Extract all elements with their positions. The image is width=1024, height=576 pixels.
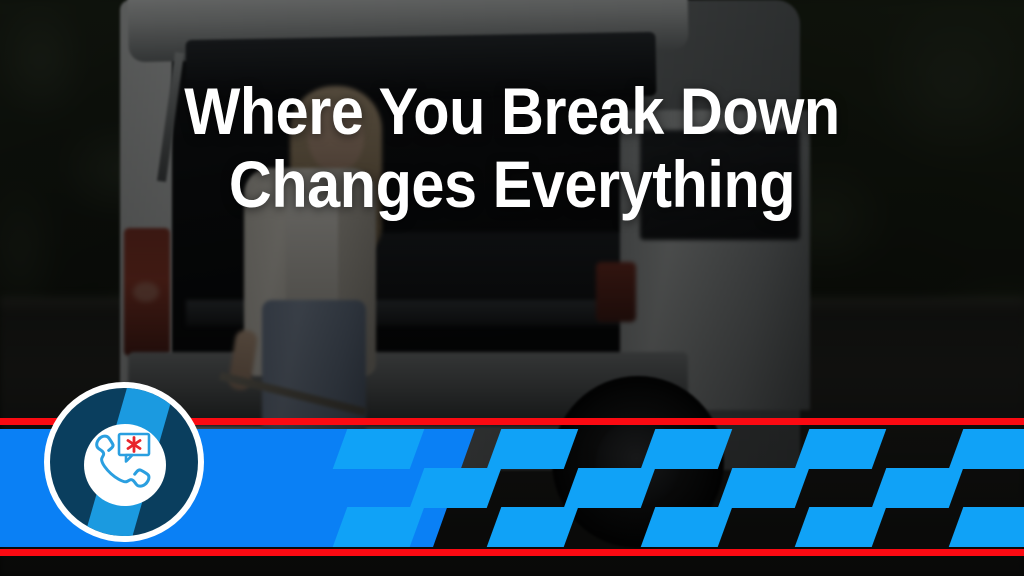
checker-cell — [949, 468, 1024, 508]
checker-cell — [949, 507, 1024, 547]
checker-cell — [564, 507, 656, 547]
checker-cell — [872, 429, 964, 469]
checker-cell — [795, 429, 887, 469]
checker-cell — [333, 507, 425, 547]
checker-cell — [718, 429, 810, 469]
headline-line-1: Where You Break Down — [51, 78, 973, 145]
banner-rule-bottom — [0, 549, 1024, 556]
checker-cell — [872, 468, 964, 508]
checker-cell — [410, 429, 502, 469]
headline: Where You Break Down Changes Everything — [51, 78, 973, 219]
checker-cell — [795, 507, 887, 547]
checker-cell — [564, 429, 656, 469]
banner-checker-pattern — [340, 429, 1024, 547]
checker-cell — [333, 468, 425, 508]
checker-row — [340, 429, 1024, 469]
checker-cell — [718, 468, 810, 508]
checker-row — [340, 507, 1024, 547]
checker-cell — [564, 468, 656, 508]
checker-cell — [410, 507, 502, 547]
checker-cell — [487, 429, 579, 469]
promo-banner-image: Where You Break Down Changes Everything — [0, 0, 1024, 576]
headline-line-2: Changes Everything — [51, 151, 973, 218]
checker-cell — [487, 507, 579, 547]
brand-logo-badge[interactable] — [44, 382, 204, 542]
checker-cell — [718, 507, 810, 547]
phone-handset-with-asterisk-message-icon — [78, 418, 160, 500]
checker-cell — [795, 468, 887, 508]
checker-cell — [949, 429, 1024, 469]
checker-cell — [641, 429, 733, 469]
checker-cell — [641, 468, 733, 508]
checker-cell — [641, 507, 733, 547]
checker-cell — [410, 468, 502, 508]
checker-cell — [872, 507, 964, 547]
checker-cell — [333, 429, 425, 469]
checker-cell — [487, 468, 579, 508]
checker-row — [340, 468, 1024, 508]
